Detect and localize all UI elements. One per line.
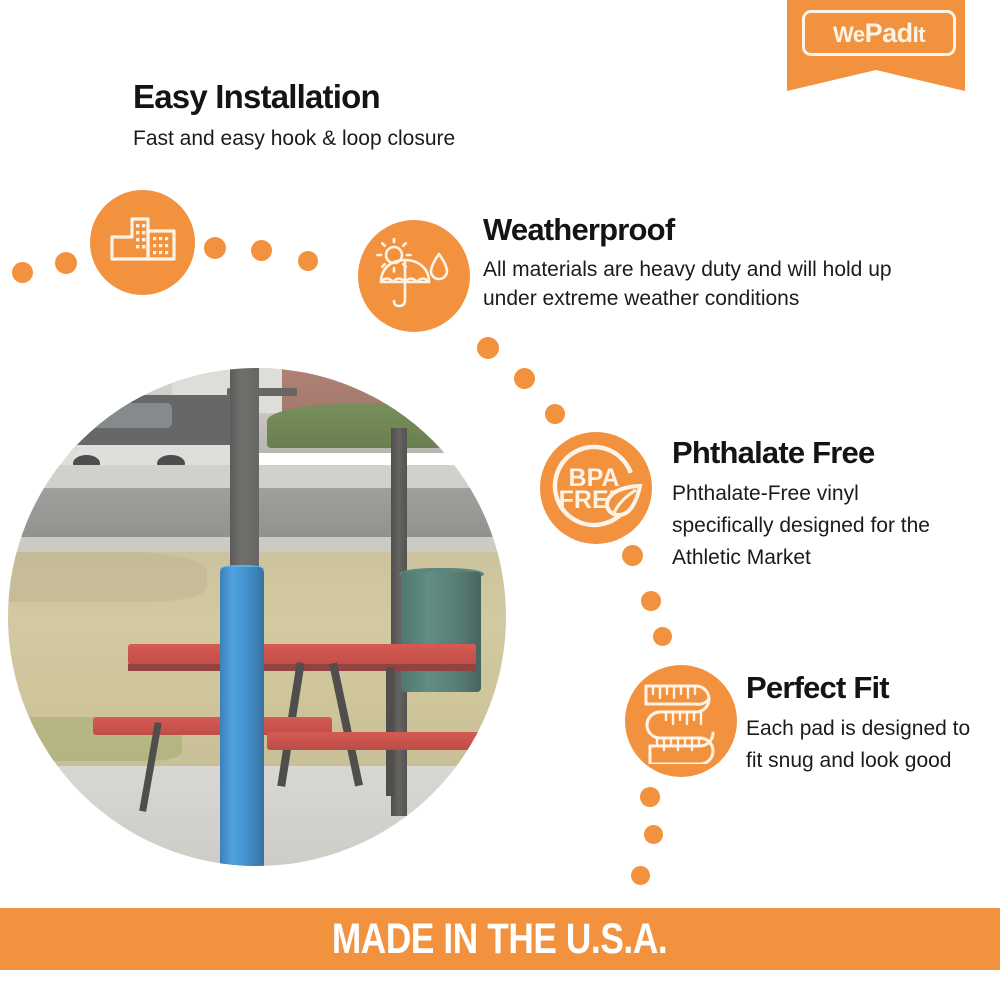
path-dot [12,262,33,283]
umbrella-sun-raindrop-icon [358,220,470,332]
made-in-usa-text: MADE IN THE U.S.A. [332,915,667,964]
path-dot [55,252,77,274]
path-dot [477,337,499,359]
path-dot [622,545,643,566]
feature-title-perfect-fit: Perfect Fit [746,672,889,703]
path-dot [298,251,318,271]
feature-description-weatherproof: All materials are heavy duty and will ho… [483,255,903,313]
made-in-usa-banner: MADE IN THE U.S.A. [0,908,1000,970]
feature-description-perfect-fit: Each pad is designed to fit snug and loo… [746,713,976,777]
brand-logo-badge: WePadIt [787,0,965,70]
feature-description-phthalate-free: Phthalate-Free vinyl specifically design… [672,478,942,574]
product-photo-scene [8,368,506,866]
path-dot [644,825,663,844]
feature-title-weatherproof: Weatherproof [483,214,674,245]
bpa-free-leaf-icon: BPA FREE [540,432,652,544]
logo-text-pad: Pad [865,18,913,48]
logo-text-it: It [913,22,925,47]
path-dot [631,866,650,885]
path-dot [640,787,660,807]
feature-title-phthalate-free: Phthalate Free [672,437,874,468]
feature-title-easy-installation: Easy Installation [133,80,380,113]
brand-logo-text: WePadIt [833,20,925,47]
path-dot [545,404,565,424]
logo-text-we: We [833,22,865,47]
path-dot [653,627,672,646]
building-factory-icon [90,190,195,295]
infographic-canvas: WePadIt Easy Installation Fast and easy … [0,0,1000,987]
path-dot [251,240,272,261]
product-photo [8,368,506,866]
path-dot [204,237,226,259]
path-dot [514,368,535,389]
path-dot [641,591,661,611]
feature-description-easy-installation: Fast and easy hook & loop closure [133,124,455,153]
brand-logo-frame: WePadIt [802,10,956,56]
measuring-tape-icon [625,665,737,777]
